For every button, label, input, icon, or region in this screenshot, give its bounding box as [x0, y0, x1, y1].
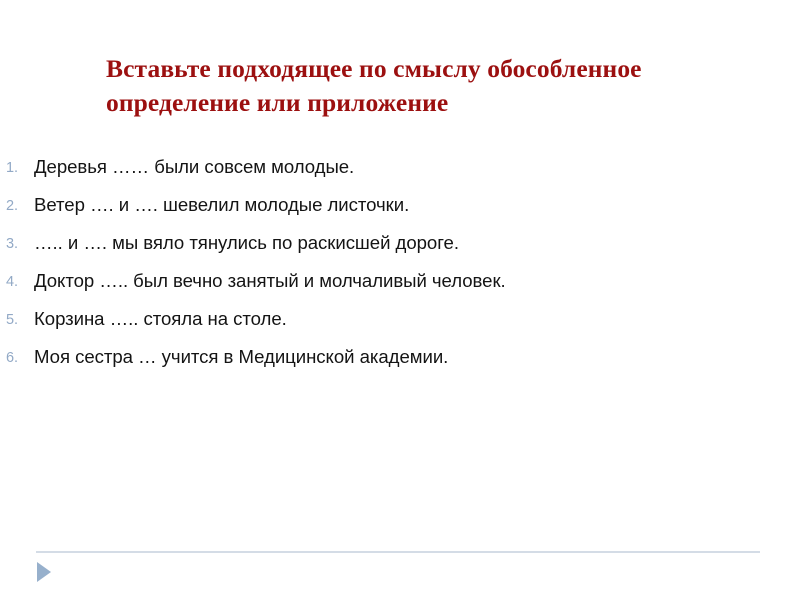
list-item-text: Доктор ….. был вечно занятый и молчаливы… — [34, 266, 594, 296]
page-title: Вставьте подходящее по смыслу обособленн… — [106, 52, 772, 120]
footer-divider — [36, 551, 760, 553]
list-item: 5. Корзина ….. стояла на столе. — [4, 304, 704, 334]
list-item-text: Ветер …. и …. шевелил молодые листочки. — [34, 190, 704, 220]
list-item-marker: 1. — [6, 154, 28, 184]
play-triangle-right-icon[interactable] — [35, 561, 55, 583]
list-item-marker: 3. — [6, 230, 28, 260]
list-item-text: Корзина ….. стояла на столе. — [34, 304, 704, 334]
title-block: Вставьте подходящее по смыслу обособленн… — [106, 52, 772, 120]
list-item: 6. Моя сестра … учится в Медицинской ака… — [4, 342, 704, 372]
list-item-marker: 5. — [6, 306, 28, 336]
list-item-marker: 6. — [6, 344, 28, 374]
list-item-marker: 2. — [6, 192, 28, 222]
list-item-marker: 4. — [6, 268, 28, 298]
exercise-list: 1. Деревья …… были совсем молодые. 2. Ве… — [4, 152, 704, 380]
slide-canvas: Вставьте подходящее по смыслу обособленн… — [0, 0, 800, 600]
list-item: 4. Доктор ….. был вечно занятый и молчал… — [4, 266, 704, 296]
list-item-text: Моя сестра … учится в Медицинской академ… — [34, 342, 704, 372]
list-item: 1. Деревья …… были совсем молодые. — [4, 152, 704, 182]
list-item-text: Деревья …… были совсем молодые. — [34, 152, 704, 182]
list-item: 3. ….. и …. мы вяло тянулись по раскисше… — [4, 228, 704, 258]
list-item: 2. Ветер …. и …. шевелил молодые листочк… — [4, 190, 704, 220]
list-item-text: ….. и …. мы вяло тянулись по раскисшей д… — [34, 228, 704, 258]
